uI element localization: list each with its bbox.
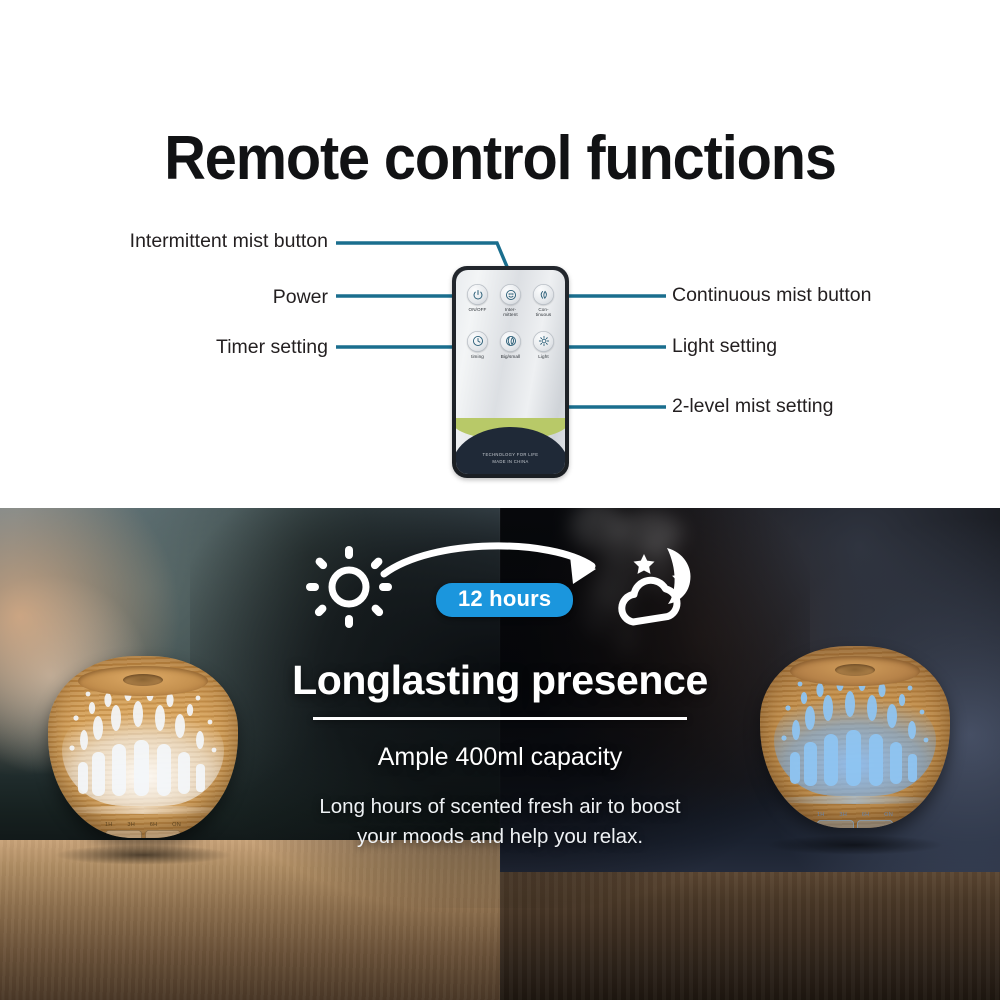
callout-label-2-level-mist-setting: 2-level mist setting xyxy=(672,397,833,417)
callout-label-timer-setting: Timer setting xyxy=(216,338,328,358)
headline-divider xyxy=(313,717,687,720)
remote-big-small-button[interactable]: Big/small xyxy=(494,331,527,359)
remote-button-grid: ON/OFF Inter- xyxy=(456,284,565,359)
clock-icon xyxy=(467,331,488,352)
remote-power-label: ON/OFF xyxy=(461,307,494,312)
section-headline: Longlasting presence xyxy=(0,660,1000,701)
continuous-label-line1: Con- xyxy=(538,307,548,312)
remote-bottom-branding: TECHNOLOGY FOR LIFE MADE IN CHINA xyxy=(456,418,565,474)
remote-timing-label: timing xyxy=(461,354,494,359)
moon-cloud-stars-icon xyxy=(611,540,703,635)
section-body-text: Long hours of scented fresh air to boost… xyxy=(0,792,1000,851)
callout-label-light-setting: Light setting xyxy=(672,337,777,357)
remote-power-button[interactable]: ON/OFF xyxy=(461,284,494,312)
remote-light-button[interactable]: Light xyxy=(527,331,560,359)
remote-footer-line1: TECHNOLOGY FOR LIFE xyxy=(483,452,539,457)
product-infographic: Remote control functions xyxy=(0,0,1000,1000)
remote-continuous-label: Con- tinuous xyxy=(527,307,560,318)
intermittent-label-line2: mittent xyxy=(503,312,518,317)
remote-big-small-label: Big/small xyxy=(494,354,527,359)
continuous-mist-icon xyxy=(533,284,554,305)
remote-button-row-2: timing Big/small xyxy=(456,331,565,359)
section-subheadline: Ample 400ml capacity xyxy=(0,745,1000,770)
remote-footer-line2: MADE IN CHINA xyxy=(492,459,528,464)
mist-level-icon xyxy=(500,331,521,352)
remote-intermittent-label: Inter- mittent xyxy=(494,307,527,318)
intermittent-label-line1: Inter- xyxy=(505,307,516,312)
body-line-1: Long hours of scented fresh air to boost xyxy=(319,795,680,818)
callout-label-continuous-mist-button: Continuous mist button xyxy=(672,286,871,306)
body-line-2: your moods and help you relax. xyxy=(357,825,643,848)
continuous-label-line2: tinuous xyxy=(536,312,552,317)
remote-footer-text: TECHNOLOGY FOR LIFE MADE IN CHINA xyxy=(456,452,565,465)
sun-icon xyxy=(533,331,554,352)
remote-continuous-button[interactable]: Con- tinuous xyxy=(527,284,560,318)
remote-face: ON/OFF Inter- xyxy=(456,270,565,474)
remote-button-row-1: ON/OFF Inter- xyxy=(456,284,565,318)
callout-label-intermittent-mist-button: Intermittent mist button xyxy=(130,232,328,252)
duration-badge: 12 hours xyxy=(436,583,573,617)
remote-control: ON/OFF Inter- xyxy=(452,266,569,478)
power-icon xyxy=(467,284,488,305)
remote-light-label: Light xyxy=(527,354,560,359)
callout-label-power: Power xyxy=(273,288,328,308)
intermittent-mist-icon xyxy=(500,284,521,305)
remote-timing-button[interactable]: timing xyxy=(461,331,494,359)
remote-intermittent-button[interactable]: Inter- mittent xyxy=(494,284,527,318)
remote-functions-section: Remote control functions xyxy=(0,0,1000,508)
